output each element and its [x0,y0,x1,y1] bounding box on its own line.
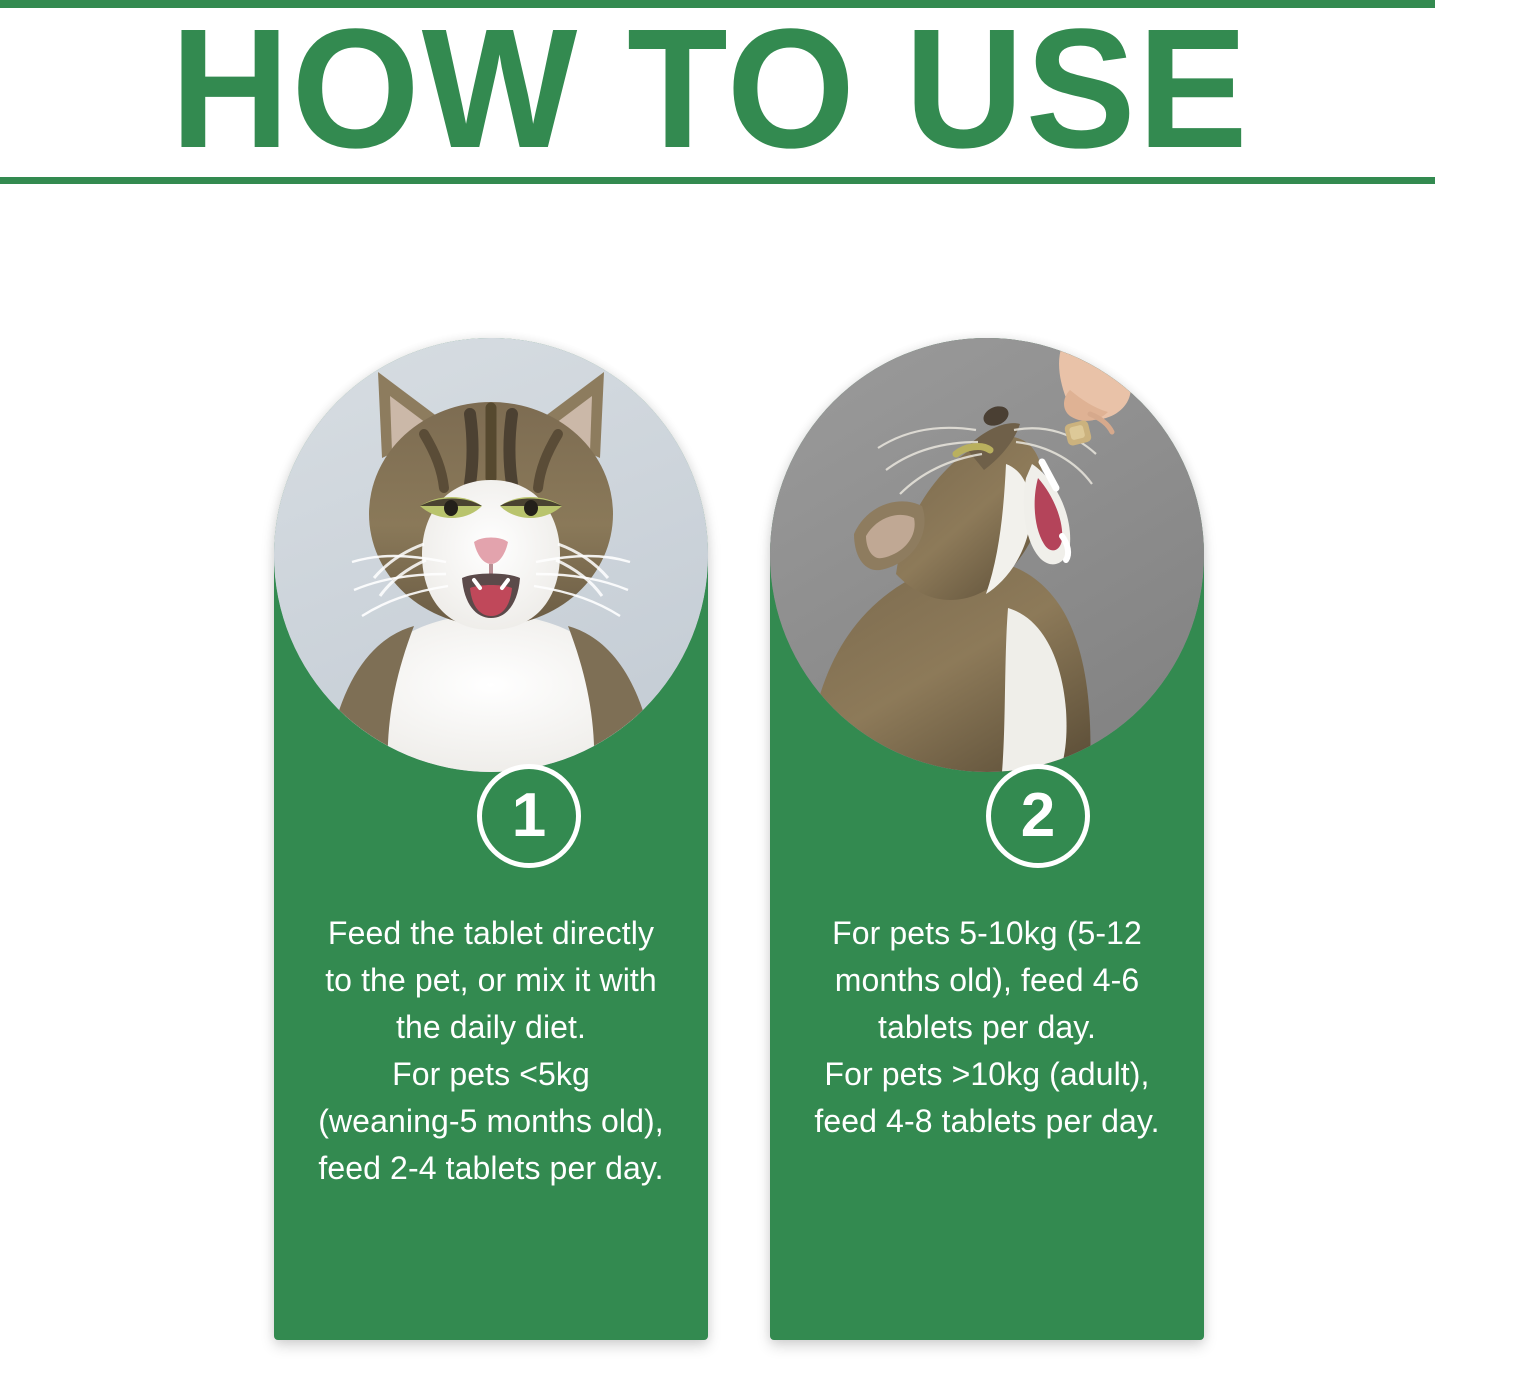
step-number-label: 1 [512,785,546,847]
step-2-line-4: For pets >10kg (adult), [780,1051,1194,1098]
step-2-line-5: feed 4-8 tablets per day. [780,1098,1194,1145]
step-1-description: Feed the tablet directly to the pet, or … [284,910,698,1192]
step-card-1: 1 Feed the tablet directly to the pet, o… [274,338,708,1340]
step-number-badge-1: 1 [477,764,581,868]
header-bottom-rule [0,177,1435,184]
step-2-line-1: For pets 5-10kg (5-12 [780,910,1194,957]
step-2-description: For pets 5-10kg (5-12 months old), feed … [780,910,1194,1145]
step-1-line-3: the daily diet. [284,1004,698,1051]
step-1-line-6: feed 2-4 tablets per day. [284,1145,698,1192]
step-1-line-1: Feed the tablet directly [284,910,698,957]
page-header: HOW TO USE [0,0,1515,190]
step-card-2: 2 For pets 5-10kg (5-12 months old), fee… [770,338,1204,1340]
step-1-photo [274,338,708,772]
step-2-line-3: tablets per day. [780,1004,1194,1051]
step-number-label: 2 [1021,785,1055,847]
step-2-line-2: months old), feed 4-6 [780,957,1194,1004]
step-1-line-2: to the pet, or mix it with [284,957,698,1004]
step-1-line-5: (weaning-5 months old), [284,1098,698,1145]
page-title: HOW TO USE [21,8,1398,170]
steps-container: 1 Feed the tablet directly to the pet, o… [0,190,1515,1373]
step-number-badge-2: 2 [986,764,1090,868]
step-1-line-4: For pets <5kg [284,1051,698,1098]
step-2-photo [770,338,1204,772]
